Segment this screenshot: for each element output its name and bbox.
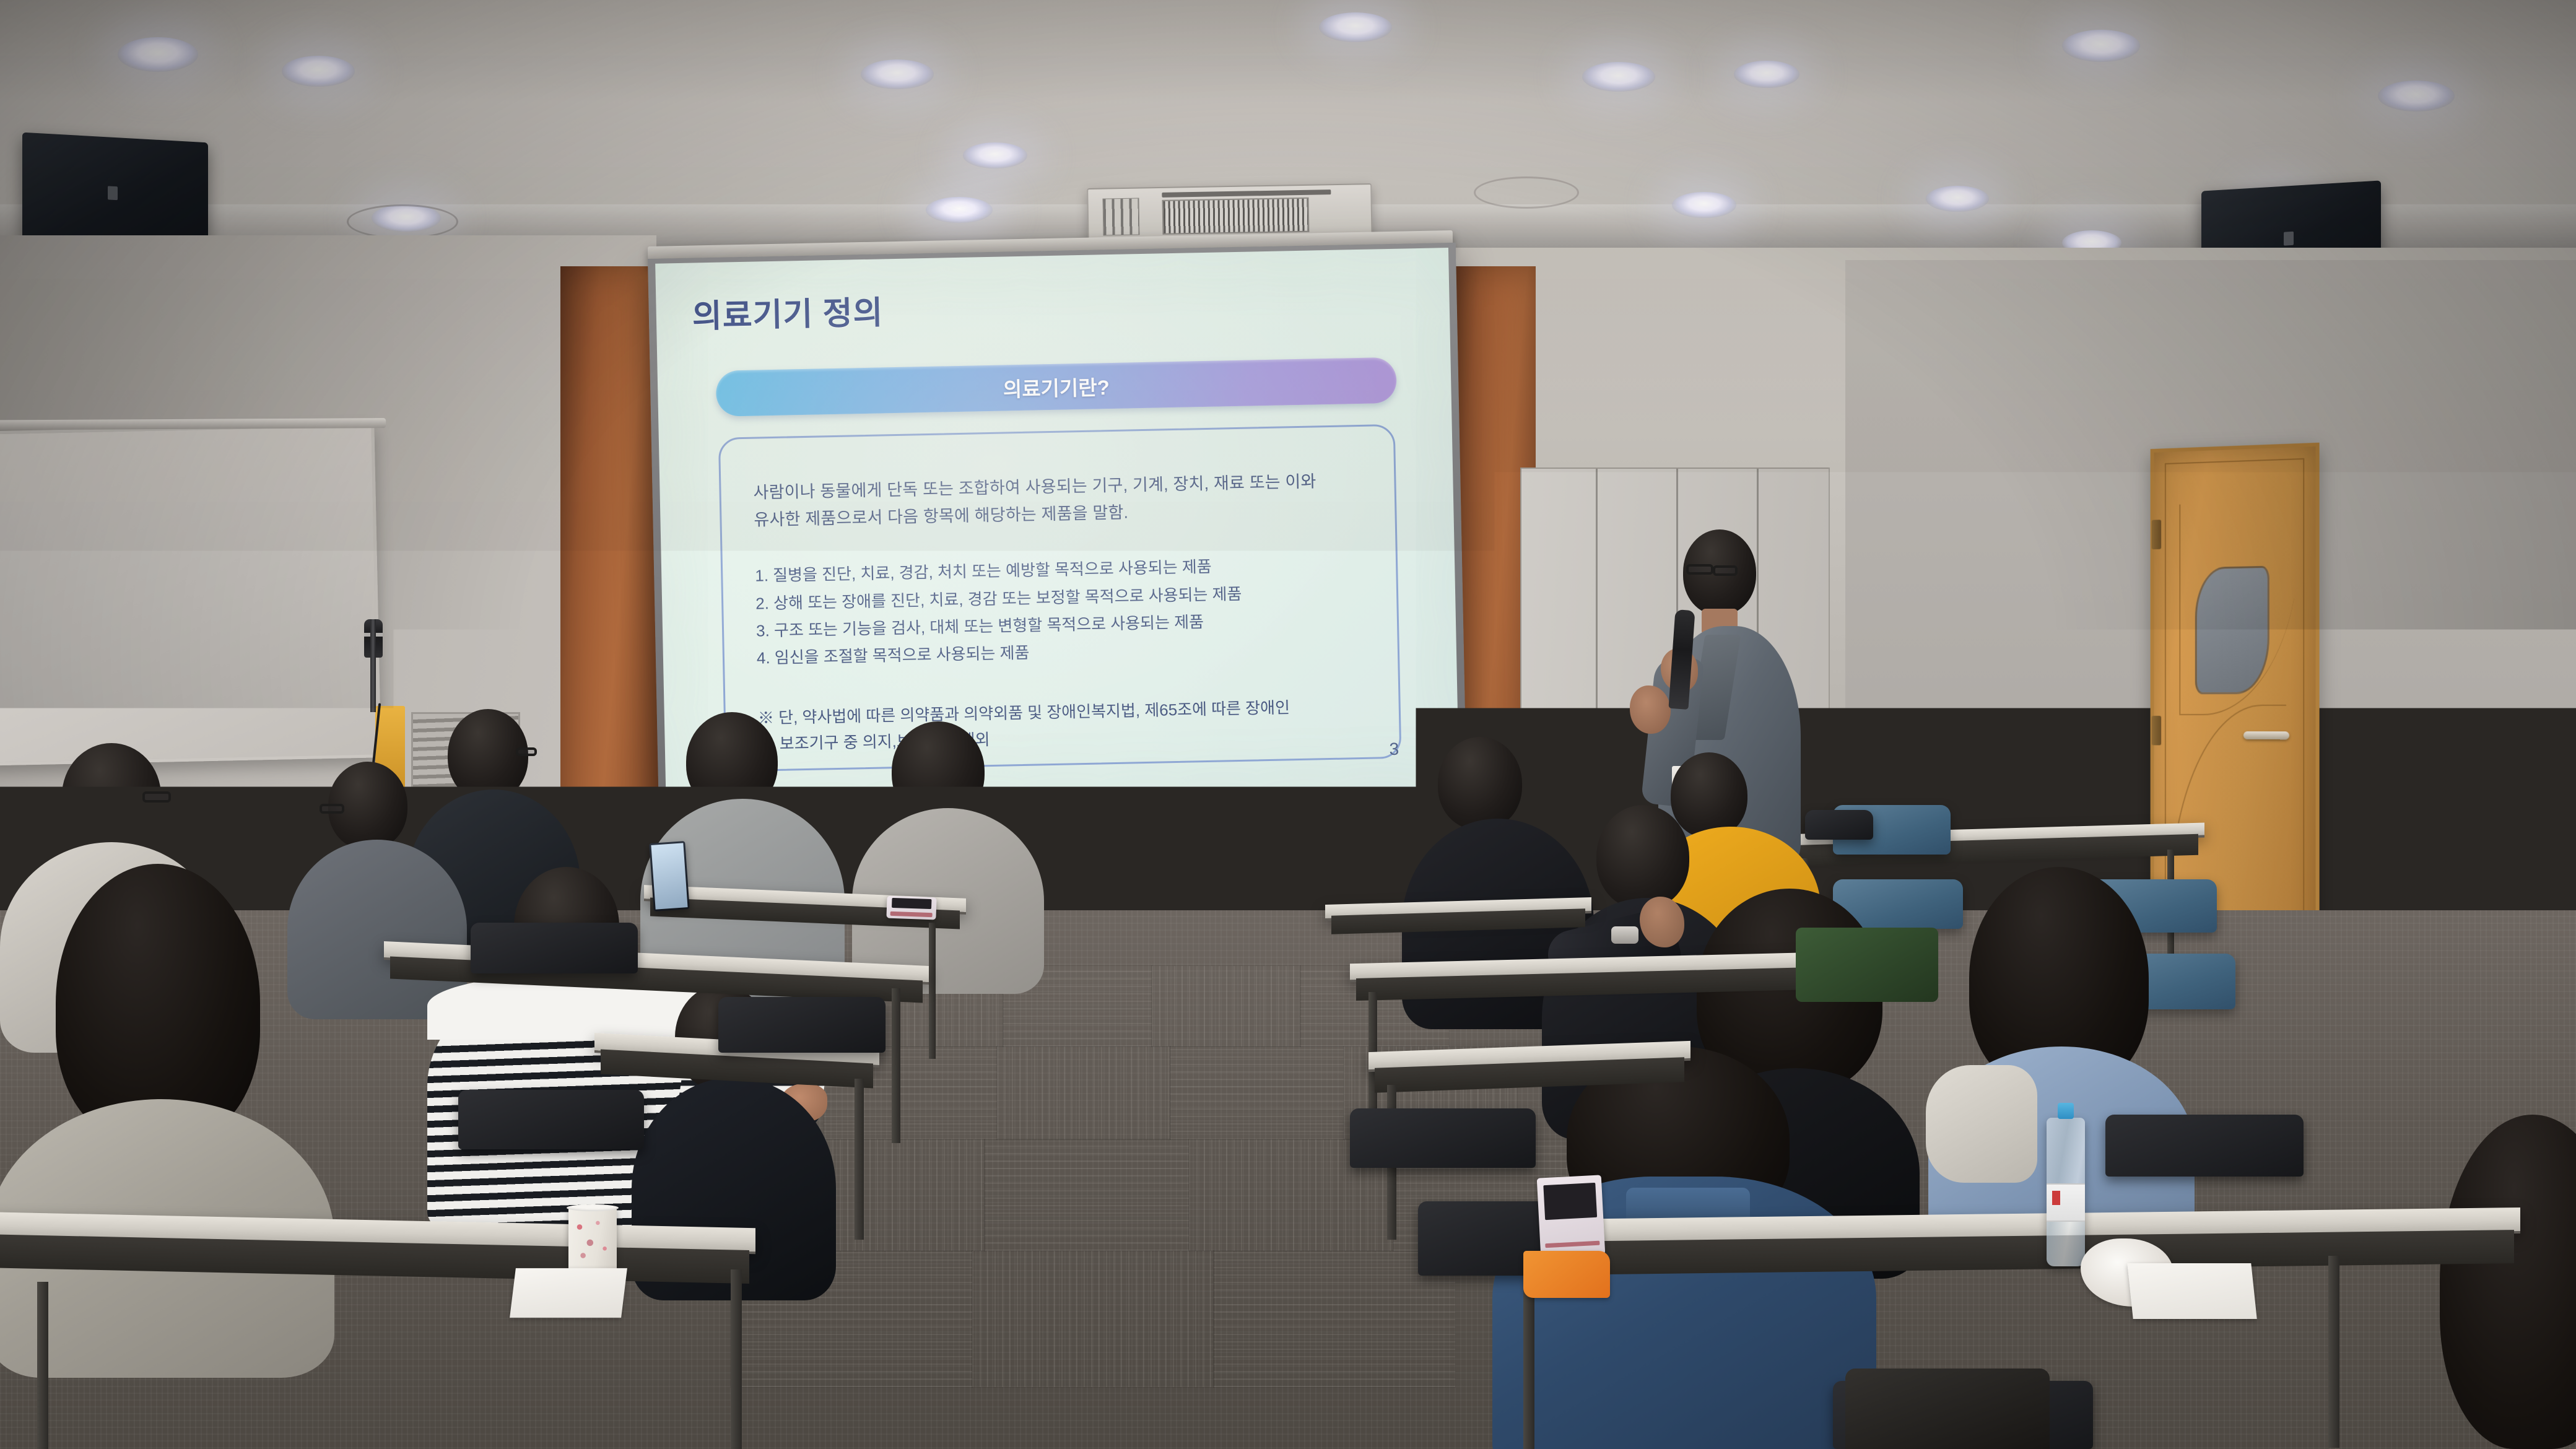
cabinet-seam [1596,469,1598,813]
downlight-icon [861,59,934,89]
glasses-icon [142,791,171,803]
head [686,712,778,811]
bottle-cap [2058,1103,2074,1119]
slide-title: 의료기기 정의 [692,276,1417,336]
whiteboard [0,423,381,765]
microphone-stand [370,619,376,712]
chair[interactable] [2105,1115,2304,1177]
glasses-icon [320,804,344,814]
green-backpack[interactable] [1796,928,1938,1002]
table-leg [929,923,936,1059]
smartphone[interactable] [1537,1175,1606,1257]
water-bottle[interactable] [2047,1118,2085,1266]
lecture-room-photo: 의료기기 정의 의료기기란? 사람이나 동물에게 단독 또는 조합하여 사용되는… [0,0,2576,1449]
downlight-icon [1734,61,1799,88]
tablet-screen [651,843,687,909]
chair[interactable] [718,997,885,1053]
table-leg [37,1282,48,1449]
table-leg [2328,1256,2339,1448]
slide-content-box: 사람이나 동물에게 단독 또는 조합하여 사용되는 기구, 기계, 장치, 재료… [718,424,1402,772]
wristwatch [1611,926,1638,944]
downlight-icon [118,37,198,72]
carpet-tile [997,1046,1170,1139]
glasses-icon [516,747,537,756]
slide-numbered-list: 1. 질병을 진단, 치료, 경감, 처치 또는 예방할 목적으로 사용되는 제… [755,550,1368,672]
ac-side-slot [1102,198,1139,236]
slide-pill-header: 의료기기란? [716,357,1397,417]
handbag[interactable] [1845,1368,2050,1449]
chair[interactable] [1805,810,1873,840]
downlight-icon [963,142,1027,168]
presentation-slide: 의료기기 정의 의료기기란? 사람이나 동물에게 단독 또는 조합하여 사용되는… [655,248,1459,810]
glasses-icon [1713,565,1738,576]
downlight-icon [1319,12,1392,42]
slide-page-number: 3 [1389,739,1399,759]
downlight-icon [282,56,355,87]
downlight-icon [1926,186,1989,212]
shoulder-scarf [1926,1065,2037,1183]
door-handle[interactable] [2243,731,2289,739]
ac-outlet-bar [1162,189,1331,198]
head [448,709,528,801]
door-hinge [2152,716,2162,746]
chair[interactable] [471,923,638,973]
smartphone[interactable] [886,896,936,920]
downlight-icon [926,197,993,223]
head [1438,737,1522,830]
table-leg [892,988,900,1143]
door-window [2195,566,2269,694]
whiteboard-rail [0,418,386,430]
tablet[interactable] [649,841,690,912]
carpet-tile [1170,1046,1344,1139]
downlight-icon [2378,80,2455,111]
cup-dot-pattern [571,1212,614,1271]
ac-grille [1162,198,1309,235]
downlight-icon [2062,30,2140,62]
slide-pill-label: 의료기기란? [1003,371,1110,402]
bottle-label [2047,1183,2085,1222]
presenter-hand-left [1630,685,1671,734]
carpet-tile [985,1139,1189,1251]
door-hinge [2152,520,2162,549]
slide-note: ※ 단, 약사법에 따른 의약품과 의약외품 및 장애인복지법, 제65조에 따… [758,693,1370,757]
head [1596,805,1689,909]
orange-pouch[interactable] [1523,1251,1610,1298]
chair[interactable] [1350,1108,1536,1168]
ceiling-recess [1474,176,1579,209]
glasses-icon [1686,564,1713,575]
carpet-tile [1152,966,1300,1046]
paper-cup[interactable] [568,1207,617,1274]
ceiling-recess [347,204,458,239]
carpet-tile [972,1251,1214,1387]
head [892,721,985,820]
downlight-icon [1672,192,1736,218]
paper-sheet[interactable] [510,1268,627,1318]
paper-sheet[interactable] [2127,1263,2256,1319]
table-leg [855,1079,864,1240]
table-leg [731,1269,742,1449]
chair[interactable] [458,1090,644,1149]
downlight-icon [1582,62,1655,92]
head [1671,752,1747,838]
